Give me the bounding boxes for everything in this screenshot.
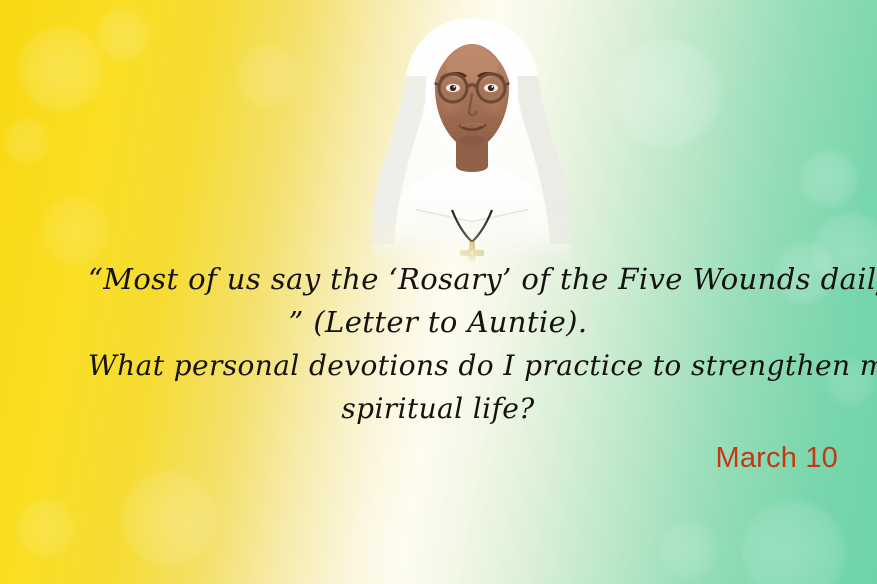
daily-reflection-poster: “Most of us say the ‘Rosary’ of the Five… — [0, 0, 877, 584]
quote-line-1: “Most of us say the ‘Rosary’ of the Five… — [88, 258, 788, 301]
date-label: March 10 — [0, 442, 838, 475]
quote-line-4: spiritual life? — [88, 387, 788, 430]
quote-block: “Most of us say the ‘Rosary’ of the Five… — [88, 258, 788, 430]
nun-portrait — [372, 14, 572, 264]
quote-line-2: ” (Letter to Auntie). — [88, 301, 788, 344]
quote-line-3: What personal devotions do I practice to… — [88, 344, 788, 387]
